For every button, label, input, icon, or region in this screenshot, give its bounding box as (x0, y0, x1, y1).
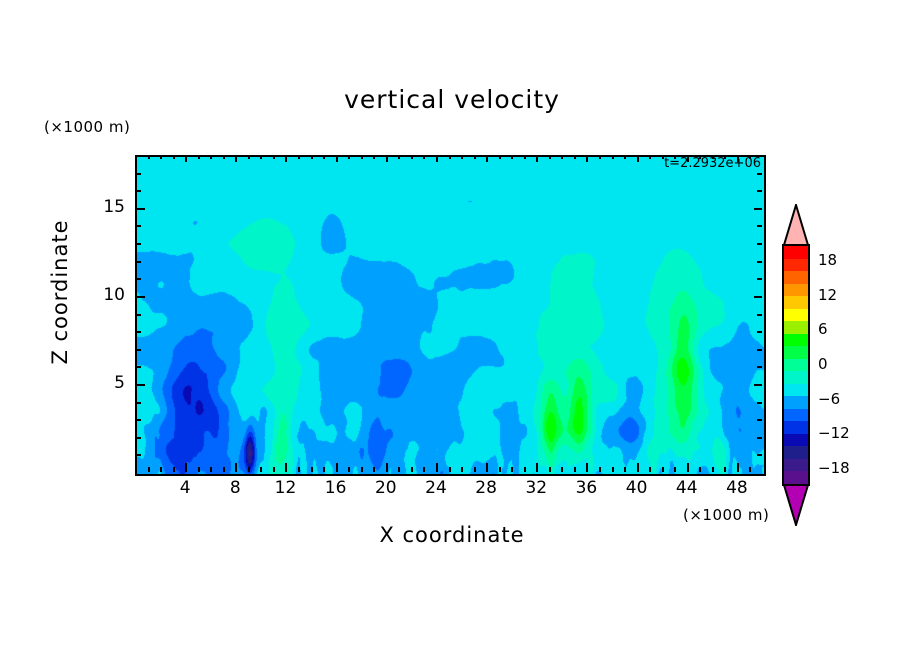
colorbar-tick-labels: 181260−6−12−18 (812, 244, 876, 486)
x-minor-tick (361, 467, 363, 472)
x-tick-label: 12 (265, 478, 305, 498)
x-top-tick (574, 155, 576, 159)
colorbar-band (784, 296, 808, 309)
plot-area: t=2.2932e+06 (135, 155, 766, 476)
colorbar-tick-label: −6 (818, 390, 840, 408)
x-tick-label: 48 (717, 478, 757, 498)
x-top-tick (411, 155, 413, 159)
y-minor-tick (135, 366, 141, 368)
x-top-tick (724, 155, 726, 159)
x-tick-label: 36 (566, 478, 606, 498)
y-right-tick (757, 225, 762, 227)
x-top-tick (624, 155, 626, 159)
x-minor-tick (524, 467, 526, 472)
colorbar-over-arrow (782, 204, 810, 246)
x-minor-tick (260, 467, 262, 472)
y-right-tick (757, 437, 762, 439)
x-minor-tick (398, 467, 400, 472)
x-tick-label: 16 (316, 478, 356, 498)
y-minor-tick (135, 243, 141, 245)
x-minor-tick (148, 467, 150, 472)
y-right-tick (754, 208, 762, 210)
y-minor-tick (135, 454, 141, 456)
x-major-tick (386, 463, 388, 472)
y-minor-tick (135, 278, 141, 280)
x-minor-tick (699, 467, 701, 472)
colorbar-band (784, 459, 808, 472)
x-top-tick (235, 155, 237, 162)
y-right-tick (757, 419, 762, 421)
x-top-tick (173, 155, 175, 159)
y-tick-label: 10 (85, 285, 125, 305)
x-top-tick (511, 155, 513, 159)
x-minor-tick (373, 467, 375, 472)
y-minor-tick (135, 314, 141, 316)
y-major-tick (135, 208, 145, 210)
x-major-tick (687, 463, 689, 472)
x-major-tick (637, 463, 639, 472)
x-tick-label: 32 (516, 478, 556, 498)
colorbar-band (784, 271, 808, 284)
x-major-tick (536, 463, 538, 472)
x-minor-tick (712, 467, 714, 472)
colorbar-band (784, 284, 808, 297)
x-tick-label: 20 (366, 478, 406, 498)
y-axis-unit-label: (×1000 m) (44, 118, 130, 136)
x-minor-tick (511, 467, 513, 472)
x-top-tick (336, 155, 338, 162)
x-minor-tick (198, 467, 200, 472)
colorbar-band (784, 246, 808, 259)
x-minor-tick (323, 467, 325, 472)
colorbar-band (784, 409, 808, 422)
x-minor-tick (749, 467, 751, 472)
x-top-tick (449, 155, 451, 159)
x-top-tick (549, 155, 551, 159)
y-axis-title: Z coordinate (48, 192, 72, 392)
x-top-tick (298, 155, 300, 159)
y-minor-tick (135, 331, 141, 333)
colorbar-bands (782, 244, 810, 486)
y-minor-tick (135, 225, 141, 227)
x-minor-tick (210, 467, 212, 472)
colorbar-band (784, 371, 808, 384)
x-minor-tick (348, 467, 350, 472)
y-tick-label: 15 (85, 197, 125, 217)
x-minor-tick (160, 467, 162, 472)
y-right-tick (757, 190, 762, 192)
x-top-tick (712, 155, 714, 159)
y-right-tick (754, 384, 762, 386)
colorbar-band (784, 434, 808, 447)
y-right-tick (757, 366, 762, 368)
y-minor-tick (135, 437, 141, 439)
x-top-tick (260, 155, 262, 159)
x-major-tick (235, 463, 237, 472)
y-major-tick (135, 384, 145, 386)
x-top-tick (561, 155, 563, 159)
x-top-tick (536, 155, 538, 162)
x-minor-tick (549, 467, 551, 472)
x-top-tick (248, 155, 250, 159)
y-right-tick (757, 173, 762, 175)
x-top-tick (499, 155, 501, 159)
x-top-tick (749, 155, 751, 159)
y-right-tick (757, 314, 762, 316)
x-top-tick (687, 155, 689, 162)
x-minor-tick (248, 467, 250, 472)
x-tick-label: 44 (667, 478, 707, 498)
x-minor-tick (624, 467, 626, 472)
x-top-tick (160, 155, 162, 159)
x-major-tick (436, 463, 438, 472)
y-right-tick (754, 296, 762, 298)
x-minor-tick (599, 467, 601, 472)
y-minor-tick (135, 349, 141, 351)
colorbar-band (784, 346, 808, 359)
y-major-tick (135, 296, 145, 298)
x-minor-tick (499, 467, 501, 472)
colorbar-band (784, 396, 808, 409)
y-minor-tick (135, 173, 141, 175)
x-tick-label: 40 (617, 478, 657, 498)
colorbar-tick-label: 12 (818, 286, 837, 304)
x-top-tick (210, 155, 212, 159)
x-top-tick (423, 155, 425, 159)
x-top-tick (386, 155, 388, 162)
colorbar-band (784, 359, 808, 372)
x-top-tick (311, 155, 313, 159)
y-right-tick (757, 261, 762, 263)
colorbar-band (784, 471, 808, 484)
x-top-tick (185, 155, 187, 162)
x-top-tick (474, 155, 476, 159)
y-right-tick (757, 402, 762, 404)
y-right-tick (757, 349, 762, 351)
x-major-tick (586, 463, 588, 472)
x-top-tick (461, 155, 463, 159)
page-title: vertical velocity (0, 85, 904, 114)
colorbar-tick-label: −12 (818, 424, 850, 442)
x-minor-tick (561, 467, 563, 472)
x-top-tick (486, 155, 488, 162)
x-minor-tick (298, 467, 300, 472)
colorbar-band (784, 259, 808, 272)
x-minor-tick (724, 467, 726, 472)
x-major-tick (185, 463, 187, 472)
x-top-tick (148, 155, 150, 159)
x-axis-title: X coordinate (0, 523, 904, 547)
y-right-tick (757, 278, 762, 280)
y-tick-label: 5 (85, 373, 125, 393)
x-top-tick (273, 155, 275, 159)
colorbar-band (784, 334, 808, 347)
x-minor-tick (449, 467, 451, 472)
colorbar-tick-label: −18 (818, 459, 850, 477)
x-minor-tick (612, 467, 614, 472)
x-tick-label: 4 (165, 478, 205, 498)
x-minor-tick (649, 467, 651, 472)
x-minor-tick (461, 467, 463, 472)
x-top-tick (348, 155, 350, 159)
x-minor-tick (173, 467, 175, 472)
x-minor-tick (311, 467, 313, 472)
y-right-tick (757, 243, 762, 245)
x-minor-tick (674, 467, 676, 472)
x-top-tick (662, 155, 664, 159)
x-axis-unit-label: (×1000 m) (683, 506, 769, 524)
x-major-tick (336, 463, 338, 472)
x-top-tick (599, 155, 601, 159)
x-top-tick (649, 155, 651, 159)
colorbar-band (784, 321, 808, 334)
x-minor-tick (474, 467, 476, 472)
x-top-tick (699, 155, 701, 159)
x-major-tick (285, 463, 287, 472)
x-top-tick (637, 155, 639, 162)
x-top-tick (398, 155, 400, 159)
x-top-tick (524, 155, 526, 159)
x-tick-label: 8 (215, 478, 255, 498)
x-top-tick (373, 155, 375, 159)
y-right-tick (757, 331, 762, 333)
x-minor-tick (223, 467, 225, 472)
x-major-tick (737, 463, 739, 472)
x-top-tick (436, 155, 438, 162)
y-right-tick (757, 454, 762, 456)
y-minor-tick (135, 419, 141, 421)
colorbar-under-arrow (782, 484, 810, 526)
x-tick-label: 24 (416, 478, 456, 498)
x-top-tick (223, 155, 225, 159)
x-major-tick (486, 463, 488, 472)
x-top-tick (674, 155, 676, 159)
y-minor-tick (135, 402, 141, 404)
colorbar-tick-label: 6 (818, 320, 828, 338)
x-top-tick (361, 155, 363, 159)
figure-canvas: vertical velocity (×1000 m) (×1000 m) t=… (0, 0, 904, 654)
colorbar-tick-label: 18 (818, 251, 837, 269)
x-top-tick (323, 155, 325, 159)
x-minor-tick (574, 467, 576, 472)
x-tick-label: 28 (466, 478, 506, 498)
x-minor-tick (662, 467, 664, 472)
x-top-tick (198, 155, 200, 159)
colorbar-band (784, 384, 808, 397)
y-minor-tick (135, 190, 141, 192)
x-minor-tick (273, 467, 275, 472)
x-top-tick (612, 155, 614, 159)
x-top-tick (737, 155, 739, 162)
x-top-tick (586, 155, 588, 162)
colorbar-band (784, 309, 808, 322)
colorbar: 181260−6−12−18 (782, 204, 810, 526)
colorbar-tick-label: 0 (818, 355, 828, 373)
y-minor-tick (135, 261, 141, 263)
colorbar-band (784, 446, 808, 459)
contour-field (137, 157, 764, 474)
colorbar-band (784, 421, 808, 434)
x-top-tick (285, 155, 287, 162)
x-minor-tick (423, 467, 425, 472)
x-minor-tick (411, 467, 413, 472)
